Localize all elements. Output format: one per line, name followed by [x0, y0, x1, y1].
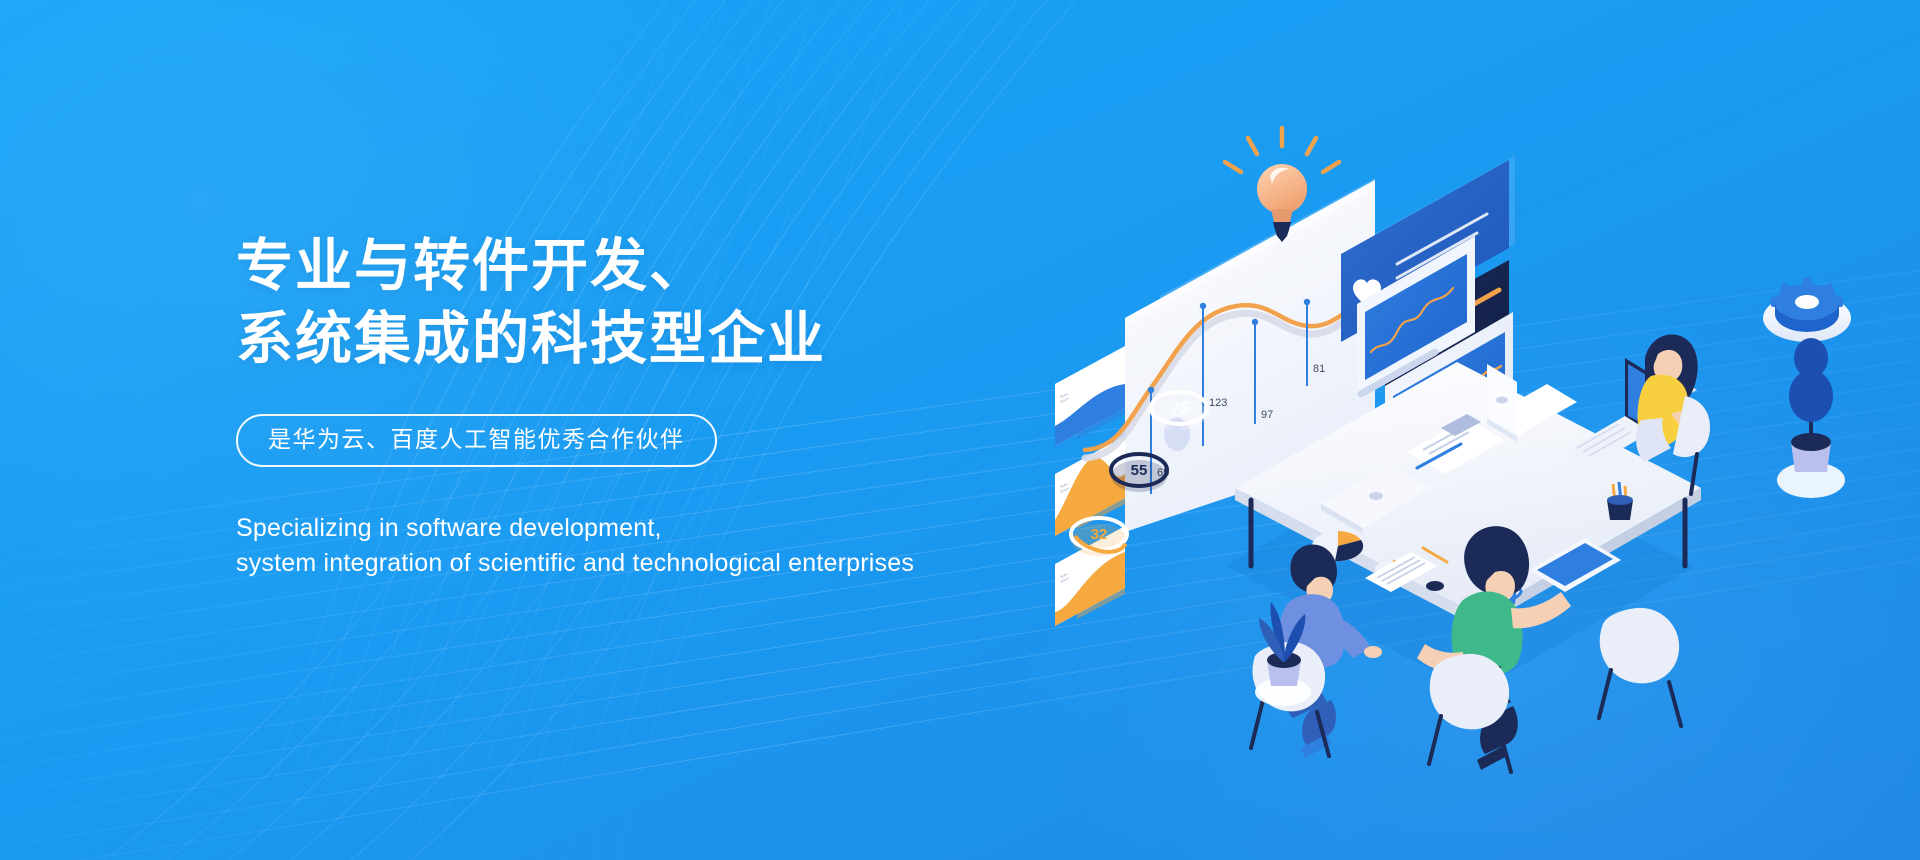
hero-banner: 专业与转件开发、 系统集成的科技型企业 是华为云、百度人工智能优秀合作伙伴 Sp… — [0, 0, 1920, 860]
hero-copy: 专业与转件开发、 系统集成的科技型企业 是华为云、百度人工智能优秀合作伙伴 Sp… — [236, 230, 1136, 580]
gauge-value-55: 55 — [1131, 462, 1148, 479]
gear-icon[interactable] — [1763, 278, 1851, 342]
chart-label-1: 123 — [1209, 397, 1227, 409]
page-title: 专业与转件开发、 系统集成的科技型企业 — [236, 230, 1136, 376]
chart-label-2: 97 — [1261, 409, 1273, 421]
subtitle-line-1: Specializing in software development, — [236, 511, 1136, 546]
hero-subtitle: Specializing in software development, sy… — [236, 511, 1136, 580]
partner-badge[interactable]: 是华为云、百度人工智能优秀合作伙伴 — [236, 414, 717, 467]
hero-illustration: Nunc ipsum Nunc ipsum Nunc ipsum — [1085, 96, 1885, 756]
chart-label-3: 81 — [1313, 363, 1325, 375]
topiary-icon — [1777, 338, 1845, 498]
gauge-value-32: 32 — [1091, 526, 1108, 543]
headline-line-1: 专业与转件开发、 — [236, 230, 1136, 303]
empty-chair — [1599, 608, 1681, 726]
subtitle-line-2: system integration of scientific and tec… — [236, 546, 1136, 581]
headline-line-2: 系统集成的科技型企业 — [236, 303, 1136, 376]
mini-card-list: Nunc ipsum Nunc ipsum Nunc ipsum — [1055, 346, 1125, 626]
